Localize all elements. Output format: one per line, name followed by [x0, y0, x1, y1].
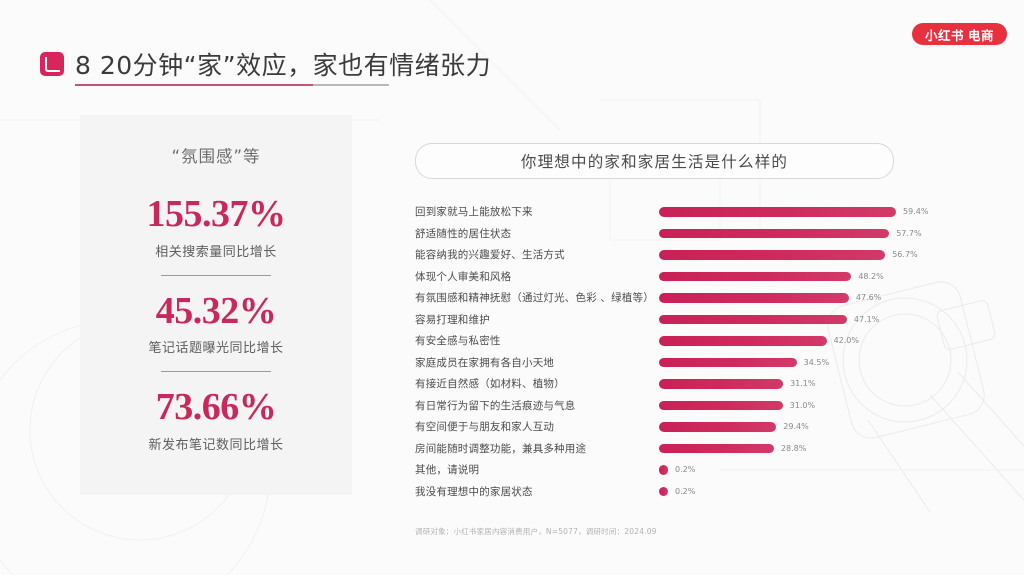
bar-category-label: 房间能随时调整功能，兼具多种用途 — [415, 441, 659, 456]
bar-value-label: 31.0% — [790, 401, 815, 410]
bar-category-label: 有安全感与私密性 — [415, 333, 659, 348]
bar-value-label: 0.2% — [675, 465, 695, 474]
bar-row: 能容纳我的兴趣爱好、生活方式56.7% — [415, 244, 975, 266]
bar-track: 47.1% — [659, 309, 975, 331]
bar-row: 有安全感与私密性42.0% — [415, 330, 975, 352]
bar-fill — [659, 487, 668, 497]
stat-block: 155.37% 相关搜索量同比增长 — [80, 193, 352, 260]
bar-category-label: 家庭成员在家拥有各自小天地 — [415, 355, 659, 370]
bar-fill — [659, 444, 774, 454]
stat-value: 73.66% — [156, 386, 277, 429]
bar-value-label: 34.5% — [804, 358, 829, 367]
bar-fill — [659, 293, 849, 303]
bar-track: 31.1% — [659, 373, 975, 395]
bar-track: 29.4% — [659, 416, 975, 438]
bar-category-label: 有空间便于与朋友和家人互动 — [415, 419, 659, 434]
chart-footnote: 调研对象：小红书家居内容消费用户，N=5077，调研时间：2024.09 — [415, 526, 975, 537]
bar-track: 42.0% — [659, 330, 975, 352]
bar-row: 体现个人审美和风格48.2% — [415, 266, 975, 288]
bar-fill — [659, 272, 851, 282]
title-segment-pink: 8 20分钟“家”效应， — [75, 51, 313, 86]
bar-track: 59.4% — [659, 201, 975, 223]
bar-value-label: 47.1% — [854, 315, 879, 324]
stat-label: 新发布笔记数同比增长 — [148, 434, 283, 453]
page-title: 8 20分钟“家”效应，家也有情绪张力 — [75, 46, 491, 82]
bar-category-label: 能容纳我的兴趣爱好、生活方式 — [415, 247, 659, 262]
bar-value-label: 29.4% — [783, 422, 808, 431]
bar-category-label: 其他，请说明 — [415, 462, 659, 477]
bar-row: 有接近自然感（如材料、植物）31.1% — [415, 373, 975, 395]
brand-logo-text: 小红书 电商 — [925, 25, 994, 44]
slide-title-row: 8 20分钟“家”效应，家也有情绪张力 — [40, 46, 491, 82]
bar-category-label: 有接近自然感（如材料、植物） — [415, 376, 659, 391]
bar-row: 回到家就马上能放松下来59.4% — [415, 201, 975, 223]
chart-title: 你理想中的家和家居生活是什么样的 — [415, 143, 894, 179]
stat-divider — [161, 371, 271, 372]
bar-value-label: 42.0% — [834, 336, 859, 345]
bar-value-label: 47.6% — [856, 293, 881, 302]
bar-fill — [659, 250, 885, 260]
bar-track: 47.6% — [659, 287, 975, 309]
bar-row: 房间能随时调整功能，兼具多种用途28.8% — [415, 438, 975, 460]
bar-fill — [659, 315, 847, 325]
bar-row: 容易打理和维护47.1% — [415, 309, 975, 331]
bar-category-label: 有氛围感和精神抚慰（通过灯光、色彩 、绿植等） — [415, 290, 659, 305]
bar-track: 28.8% — [659, 438, 975, 460]
bar-value-label: 31.1% — [790, 379, 815, 388]
bar-track: 48.2% — [659, 266, 975, 288]
bar-category-label: 有日常行为留下的生活痕迹与气息 — [415, 398, 659, 413]
bar-track: 34.5% — [659, 352, 975, 374]
bar-value-label: 59.4% — [903, 207, 928, 216]
bar-category-label: 体现个人审美和风格 — [415, 269, 659, 284]
bar-row: 有氛围感和精神抚慰（通过灯光、色彩 、绿植等）47.6% — [415, 287, 975, 309]
chart-panel: 你理想中的家和家居生活是什么样的 回到家就马上能放松下来59.4%舒适随性的居住… — [415, 143, 975, 537]
stats-panel-heading: “氛围感”等 — [171, 143, 260, 167]
bar-row: 有空间便于与朋友和家人互动29.4% — [415, 416, 975, 438]
bar-category-label: 舒适随性的居住状态 — [415, 226, 659, 241]
bar-track: 31.0% — [659, 395, 975, 417]
bar-fill — [659, 379, 783, 389]
bar-category-label: 容易打理和维护 — [415, 312, 659, 327]
bar-track: 57.7% — [659, 223, 975, 245]
bar-track: 0.2% — [659, 459, 975, 481]
bar-fill — [659, 422, 776, 432]
bar-value-label: 57.7% — [896, 229, 921, 238]
stat-label: 相关搜索量同比增长 — [155, 241, 277, 260]
bar-track: 56.7% — [659, 244, 975, 266]
bar-category-label: 回到家就马上能放松下来 — [415, 204, 659, 219]
bar-fill — [659, 358, 797, 368]
stat-value: 155.37% — [147, 193, 286, 236]
bar-row: 其他，请说明0.2% — [415, 459, 975, 481]
bar-row: 我没有理想中的家居状态0.2% — [415, 481, 975, 503]
bar-chart: 回到家就马上能放松下来59.4%舒适随性的居住状态57.7%能容纳我的兴趣爱好、… — [415, 201, 975, 502]
bar-row: 家庭成员在家拥有各自小天地34.5% — [415, 352, 975, 374]
bar-value-label: 0.2% — [675, 487, 695, 496]
brand-logo: 小红书 电商 — [912, 23, 1007, 45]
bar-value-label: 28.8% — [781, 444, 806, 453]
title-segment-plain: 情绪张力 — [389, 51, 491, 80]
stat-label: 笔记话题曝光同比增长 — [148, 337, 283, 356]
bar-row: 舒适随性的居住状态57.7% — [415, 223, 975, 245]
bar-fill — [659, 336, 827, 346]
stat-divider — [161, 275, 271, 276]
stats-panel: “氛围感”等 155.37% 相关搜索量同比增长 45.32% 笔记话题曝光同比… — [80, 115, 352, 495]
bar-fill — [659, 229, 889, 239]
stat-value: 45.32% — [156, 290, 277, 333]
bar-fill — [659, 401, 783, 411]
bar-value-label: 48.2% — [858, 272, 883, 281]
bookmark-square-icon — [40, 52, 64, 76]
bar-fill — [659, 207, 896, 217]
bar-track: 0.2% — [659, 481, 975, 503]
stat-block: 45.32% 笔记话题曝光同比增长 — [80, 290, 352, 357]
bar-category-label: 我没有理想中的家居状态 — [415, 484, 659, 499]
bar-value-label: 56.7% — [892, 250, 917, 259]
bar-row: 有日常行为留下的生活痕迹与气息31.0% — [415, 395, 975, 417]
title-segment-gray: 家也有 — [313, 51, 390, 86]
stat-block: 73.66% 新发布笔记数同比增长 — [80, 386, 352, 453]
bar-fill — [659, 465, 668, 475]
